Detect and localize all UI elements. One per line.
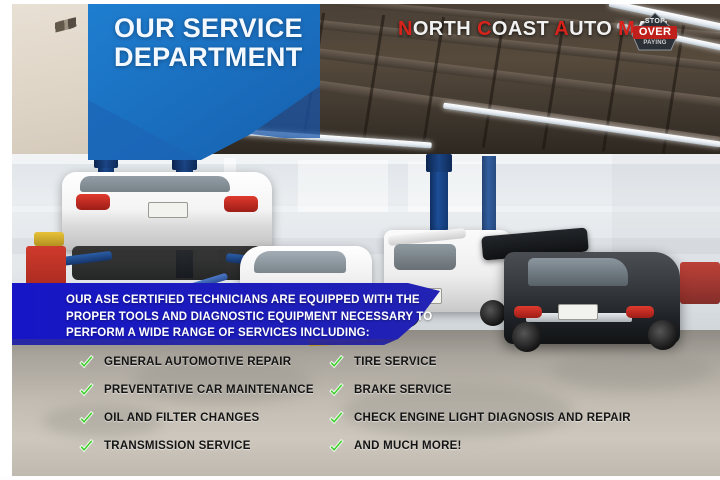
list-item: PREVENTATIVE CAR MAINTENANCE [78,376,336,404]
brand-part: A [554,18,569,40]
badge-line-1: STOP [631,18,679,25]
services-column-left: GENERAL AUTOMOTIVE REPAIR PREVENTATIVE C… [78,348,336,460]
rear-window [394,244,456,270]
brand-part: C [477,18,492,40]
service-label: TRANSMISSION SERVICE [104,440,251,452]
green-check-icon [78,410,95,427]
service-label: BRAKE SERVICE [354,384,452,396]
stop-over-paying-badge: STOP OVER PAYING [631,12,679,52]
title-line-1: OUR SERVICE [114,13,303,43]
copy-line-3: PERFORM A WIDE RANGE OF SERVICES INCLUDI… [66,325,432,342]
badge-line-3: PAYING [631,40,679,46]
tail-light [76,194,110,210]
list-item: TRANSMISSION SERVICE [78,432,336,460]
green-check-icon [328,438,345,455]
rear-window [80,176,230,192]
tail-light [224,196,258,212]
frame-top-margin [0,0,720,4]
green-check-icon [328,354,345,371]
services-column-right: TIRE SERVICE BRAKE SERVICE CHECK ENGINE … [328,348,708,460]
green-check-icon [328,410,345,427]
wall-light-panel [298,160,388,212]
list-item: AND MUCH MORE! [328,432,708,460]
green-check-icon [78,382,95,399]
license-plate [148,202,188,218]
copy-text: OUR ASE CERTIFIED TECHNICIANS ARE EQUIPP… [66,292,432,342]
service-label: PREVENTATIVE CAR MAINTENANCE [104,384,314,396]
service-label: CHECK ENGINE LIGHT DIAGNOSIS AND REPAIR [354,412,631,424]
service-department-ad: OUR SERVICE DEPARTMENT NORTH COAST AUTO … [0,0,720,480]
brand-part: UTO [569,18,618,40]
floor-jack [34,232,64,246]
copy-line-1: OUR ASE CERTIFIED TECHNICIANS ARE EQUIPP… [66,292,432,309]
brand-part: OAST [492,18,554,40]
windshield [254,251,346,273]
vehicle-on-lift [62,172,272,250]
title-line-2: DEPARTMENT [114,43,310,72]
license-plate [558,304,598,320]
service-label: TIRE SERVICE [354,356,437,368]
brand-part: N [398,18,413,40]
green-check-icon [328,382,345,399]
list-item: BRAKE SERVICE [328,376,708,404]
badge-line-2: OVER [631,27,679,38]
windshield [528,258,628,286]
list-item: GENERAL AUTOMOTIVE REPAIR [78,348,336,376]
title-banner: OUR SERVICE DEPARTMENT [88,0,320,160]
service-label: GENERAL AUTOMOTIVE REPAIR [104,356,291,368]
green-check-icon [78,438,95,455]
list-item: TIRE SERVICE [328,348,708,376]
services-list: GENERAL AUTOMOTIVE REPAIR PREVENTATIVE C… [12,348,720,460]
green-check-icon [78,354,95,371]
frame-bottom-margin [0,476,720,480]
wheel [648,320,678,350]
copy-line-2: PROPER TOOLS AND DIAGNOSTIC EQUIPMENT NE… [66,309,432,326]
list-item: OIL AND FILTER CHANGES [78,404,336,432]
tail-light [626,306,654,318]
list-item: CHECK ENGINE LIGHT DIAGNOSIS AND REPAIR [328,404,708,432]
lift-post-cap [426,154,452,172]
tail-light [514,306,542,318]
title-text: OUR SERVICE DEPARTMENT [88,0,320,72]
brand-part: ORTH [413,18,477,40]
service-label: AND MUCH MORE! [354,440,462,452]
red-vehicle-edge [680,262,720,304]
wheel [480,300,506,326]
service-label: OIL AND FILTER CHANGES [104,412,259,424]
frame-left-margin [0,0,12,480]
